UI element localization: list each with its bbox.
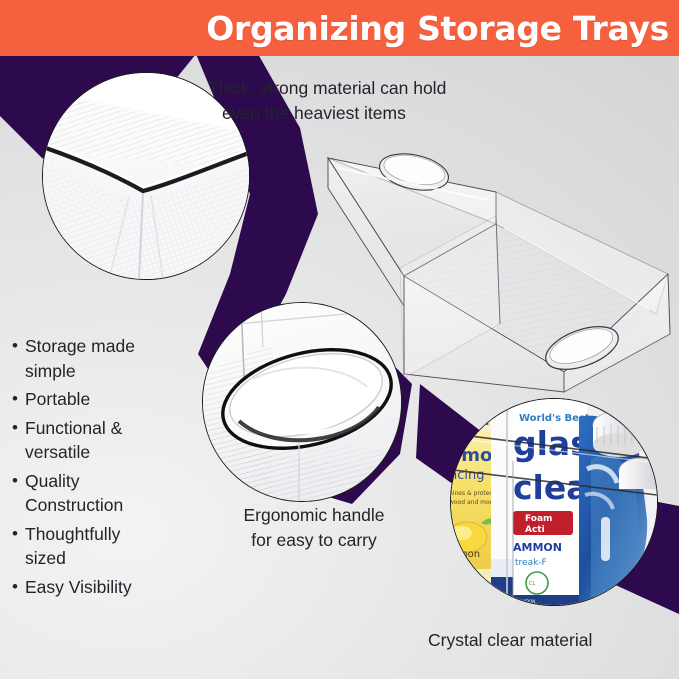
- list-item: • Easy Visibility: [12, 575, 198, 600]
- feature-bullet-list: • Storage madesimple • Portable • Functi…: [12, 334, 198, 603]
- caption-ergonomic-handle-line1: Ergonomic handle: [214, 503, 414, 528]
- svg-text:CAUTION: CAUTION: [517, 599, 535, 604]
- page-title: Organizing Storage Trays: [206, 12, 669, 45]
- ergonomic-handle-closeup-circle: [202, 302, 402, 502]
- bullet-dot-icon: •: [12, 522, 25, 547]
- svg-text:17 FL OZ (503 mL): 17 FL OZ (503 mL): [451, 581, 493, 587]
- glass-cleaner-badge1-label: Foam: [525, 514, 552, 524]
- bullet-dot-icon: •: [12, 416, 25, 441]
- bullet-dot-icon: •: [12, 469, 25, 494]
- list-item: • Storage madesimple: [12, 334, 198, 383]
- list-item: • Functional &versatile: [12, 416, 198, 465]
- list-item-label: Portable: [25, 387, 198, 412]
- caption-ergonomic-handle-line2: for easy to carry: [214, 528, 414, 553]
- caption-crystal-clear: Crystal clear material: [428, 628, 658, 653]
- list-item: • Portable: [12, 387, 198, 412]
- bullet-dot-icon: •: [12, 575, 25, 600]
- glass-cleaner-sub2-label: treak-F: [515, 558, 547, 568]
- infographic-page: Organizing Storage Trays: [0, 0, 679, 679]
- bullet-dot-icon: •: [12, 334, 25, 359]
- bullet-dot-icon: •: [12, 387, 25, 412]
- svg-text:NET 199 g: NET 199 g: [629, 580, 650, 585]
- svg-text:CL: CL: [529, 581, 535, 587]
- list-item-label: Storage madesimple: [25, 334, 198, 383]
- list-item: • Thoughtfullysized: [12, 522, 198, 571]
- caption-ergonomic-handle: Ergonomic handle for easy to carry: [214, 503, 414, 553]
- lemon-sub3-label: wood and more: [451, 499, 496, 506]
- crystal-clear-products-closeup-circle: autify emo ncing hines & protects wood a…: [450, 398, 658, 606]
- caption-thick-material: Thick, strong material can hold even the…: [208, 76, 484, 126]
- lemon-word-label: emo: [451, 445, 492, 466]
- header-banner: Organizing Storage Trays: [0, 0, 679, 56]
- list-item-label: QualityConstruction: [25, 469, 198, 518]
- caption-thick-material-line2: even the heaviest items: [208, 101, 484, 126]
- caption-thick-material-line1: Thick, strong material can hold: [208, 76, 484, 101]
- lemon-fruit-label: lemon: [451, 549, 480, 560]
- list-item-label: Easy Visibility: [25, 575, 198, 600]
- list-item: • QualityConstruction: [12, 469, 198, 518]
- glass-cleaner-badge2-label: Acti: [525, 525, 545, 535]
- list-item-label: Functional &versatile: [25, 416, 198, 465]
- glass-cleaner-sub1-label: AMMON: [513, 541, 562, 554]
- list-item-label: Thoughtfullysized: [25, 522, 198, 571]
